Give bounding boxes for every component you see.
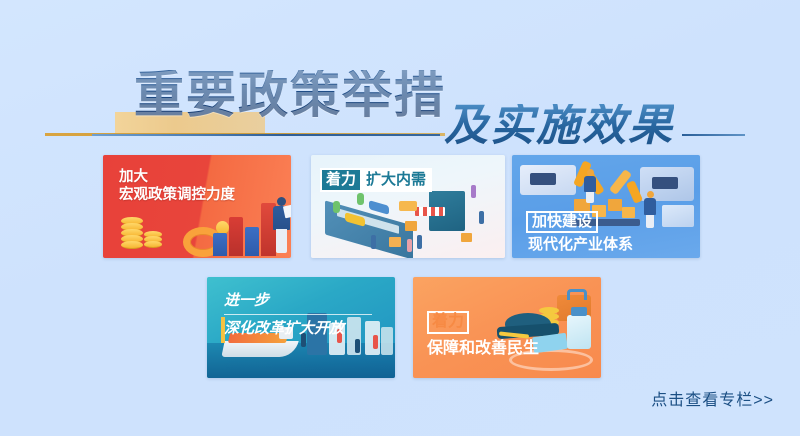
bar-2	[229, 217, 243, 256]
car-blue	[369, 200, 389, 215]
bottle-cap	[571, 307, 587, 316]
tree-1	[333, 201, 340, 213]
parcel-1	[405, 221, 417, 231]
card-modern-industrial-system[interactable]: 加快建设 现代化产业体系	[512, 155, 700, 258]
card-3-line1: 加快建设	[526, 211, 598, 233]
truck	[399, 201, 417, 211]
machine-right-screen	[652, 177, 678, 189]
parcel-3	[461, 233, 472, 242]
pedestrian-3	[417, 235, 422, 249]
card-4-line2: 深化改革扩大开放	[224, 320, 344, 339]
card-5-line1-char1: 着力	[427, 311, 469, 334]
coin-stack-tall-icon	[121, 217, 143, 247]
person-c	[355, 339, 360, 353]
card-1-line2: 宏观政策调控力度	[119, 187, 235, 203]
card-improve-peoples-livelihood[interactable]: 着力 保障和改善民生	[413, 277, 601, 378]
title-underline	[92, 134, 440, 136]
card-2-line2: 扩大内需	[362, 168, 432, 192]
person-icon	[271, 197, 291, 255]
person-d	[373, 335, 378, 349]
card-3-line2: 现代化产业体系	[526, 237, 633, 252]
card-3-text: 加快建设 现代化产业体系	[526, 211, 633, 252]
card-1-text: 加大 宏观政策调控力度	[119, 169, 235, 205]
briefcase-handle	[567, 289, 587, 300]
tree-2	[357, 193, 364, 205]
bar-3	[245, 227, 259, 256]
poster-stage: 重要政策举措 及实施效果	[0, 0, 800, 436]
pedestrian-1	[371, 235, 376, 249]
card-1-line1: 加大	[119, 169, 148, 185]
machine-lower-right	[662, 205, 694, 227]
pedestrian-2	[407, 239, 412, 252]
card-expand-domestic-demand[interactable]: 着力扩大内需	[311, 155, 505, 258]
card-5-text: 着力 保障和改善民生	[427, 311, 539, 357]
worker-1-icon	[582, 169, 598, 203]
card-4-line1: 进一步	[224, 292, 344, 311]
pedestrian-5	[479, 211, 484, 224]
card-4-text: 进一步 深化改革扩大开放	[224, 292, 344, 338]
building-5	[381, 327, 393, 355]
card-2-text: 着力扩大内需	[320, 168, 432, 192]
machine-left-screen	[530, 173, 556, 185]
card-5-line2: 保障和改善民生	[427, 341, 539, 357]
bar-1	[213, 233, 227, 256]
page-subtitle: 及实施效果	[444, 104, 674, 148]
subtitle-rule	[682, 134, 745, 136]
card-deepen-reform-opening[interactable]: 进一步 深化改革扩大开放	[207, 277, 395, 378]
view-column-link[interactable]: 点击查看专栏>>	[651, 386, 774, 410]
medicine-bottle-icon	[567, 315, 591, 349]
card-2-line1: 着力	[320, 168, 362, 192]
parcel-2	[389, 237, 401, 247]
box-3	[608, 199, 622, 211]
pedestrian-4	[471, 185, 476, 198]
ship-hull	[221, 341, 298, 357]
awning	[415, 207, 445, 216]
page-title-block: 重要政策举措 及实施效果	[0, 34, 800, 114]
page-title: 重要政策举措	[134, 70, 446, 120]
card-macro-policy[interactable]: 加大 宏观政策调控力度	[103, 155, 291, 258]
coin-stack-short-icon	[144, 231, 162, 247]
worker-2-icon	[642, 191, 658, 229]
